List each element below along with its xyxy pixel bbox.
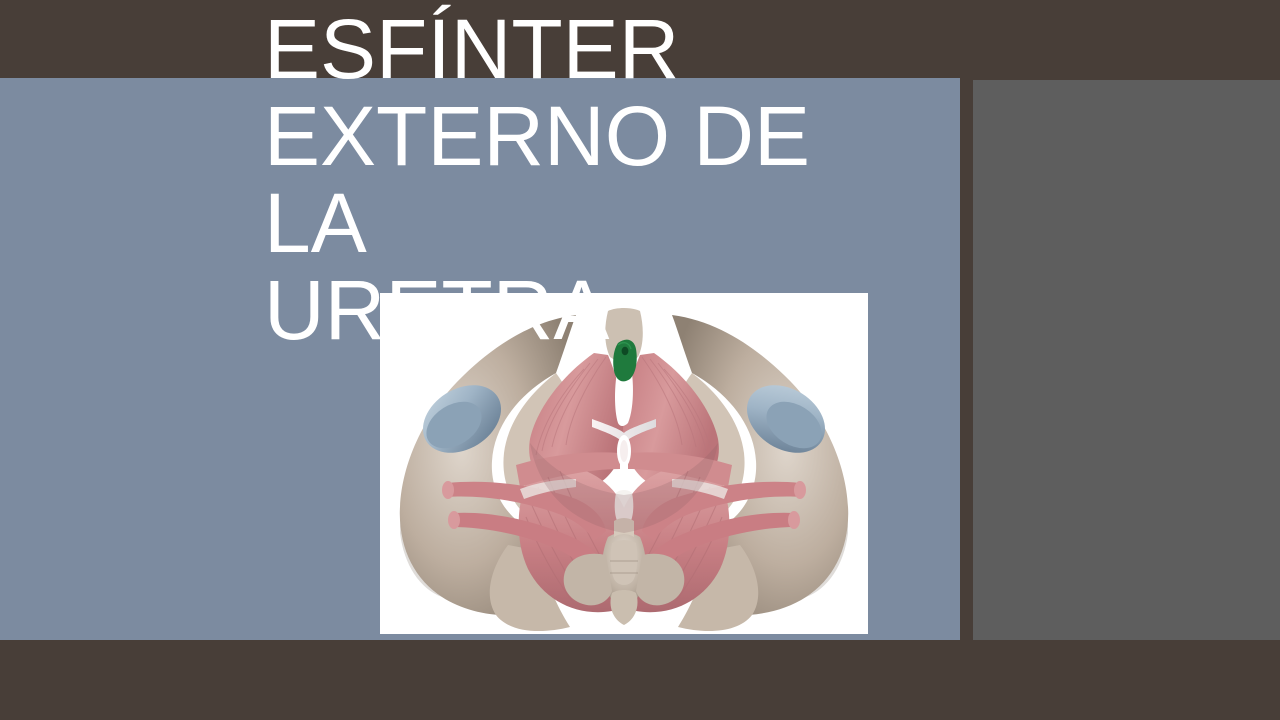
slide-title: ESFÍNTER EXTERNO DE LA URETRA bbox=[264, 6, 924, 354]
slide: ESFÍNTER EXTERNO DE LA URETRA bbox=[0, 0, 1280, 720]
accent-panel bbox=[973, 80, 1280, 640]
